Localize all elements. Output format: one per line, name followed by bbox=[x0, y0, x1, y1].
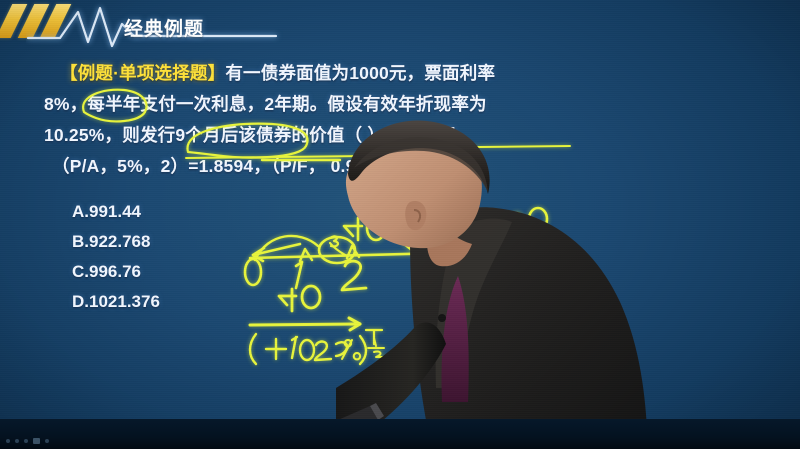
question-tag: 【例题·单项选择题】 bbox=[60, 63, 225, 83]
presenter-instructor bbox=[336, 120, 676, 449]
ink-tick-1 bbox=[300, 249, 312, 261]
ink-curve-arc bbox=[255, 236, 318, 260]
ink-fraction-numerator-4 bbox=[279, 289, 296, 311]
ink-denom-0 bbox=[300, 340, 314, 360]
ink-axis-label-1 bbox=[296, 262, 302, 288]
option-a[interactable]: A.991.44 bbox=[72, 197, 160, 227]
ink-denom-plus bbox=[266, 339, 286, 359]
video-frame: 经典例题 【例题·单项选择题】有一债券面值为1000元，票面利率 8%，每半年支… bbox=[0, 0, 800, 449]
ink-denom-1 bbox=[292, 337, 297, 358]
ink-arrow-to-d bbox=[253, 244, 300, 255]
ink-axis-label-0 bbox=[245, 259, 261, 285]
ink-fraction-numerator-0 bbox=[302, 286, 320, 308]
option-d[interactable]: D.1021.376 bbox=[72, 287, 160, 317]
bottom-bar bbox=[0, 419, 800, 449]
option-b[interactable]: B.922.768 bbox=[72, 227, 160, 257]
option-c[interactable]: C.996.76 bbox=[72, 257, 160, 287]
ink-denom-2 bbox=[315, 342, 331, 360]
header: 经典例题 bbox=[0, 0, 300, 56]
ink-denom-paren-open bbox=[250, 334, 256, 364]
page-title: 经典例题 bbox=[124, 14, 204, 41]
question-line-1: 【例题·单项选择题】有一债券面值为1000元，票面利率 bbox=[44, 58, 644, 89]
question-line-2: 8%，每半年支付一次利息，2年期。假设有效年折现率为 bbox=[44, 89, 644, 120]
question-line-1-body: 有一债券面值为1000元，票面利率 bbox=[225, 63, 495, 83]
presenter-lapel-mic-icon bbox=[438, 314, 446, 322]
ink-arrowhead bbox=[253, 248, 264, 261]
bottom-bar-indicators bbox=[6, 438, 49, 444]
answer-options: A.991.44 B.922.768 C.996.76 D.1021.376 bbox=[72, 197, 160, 317]
